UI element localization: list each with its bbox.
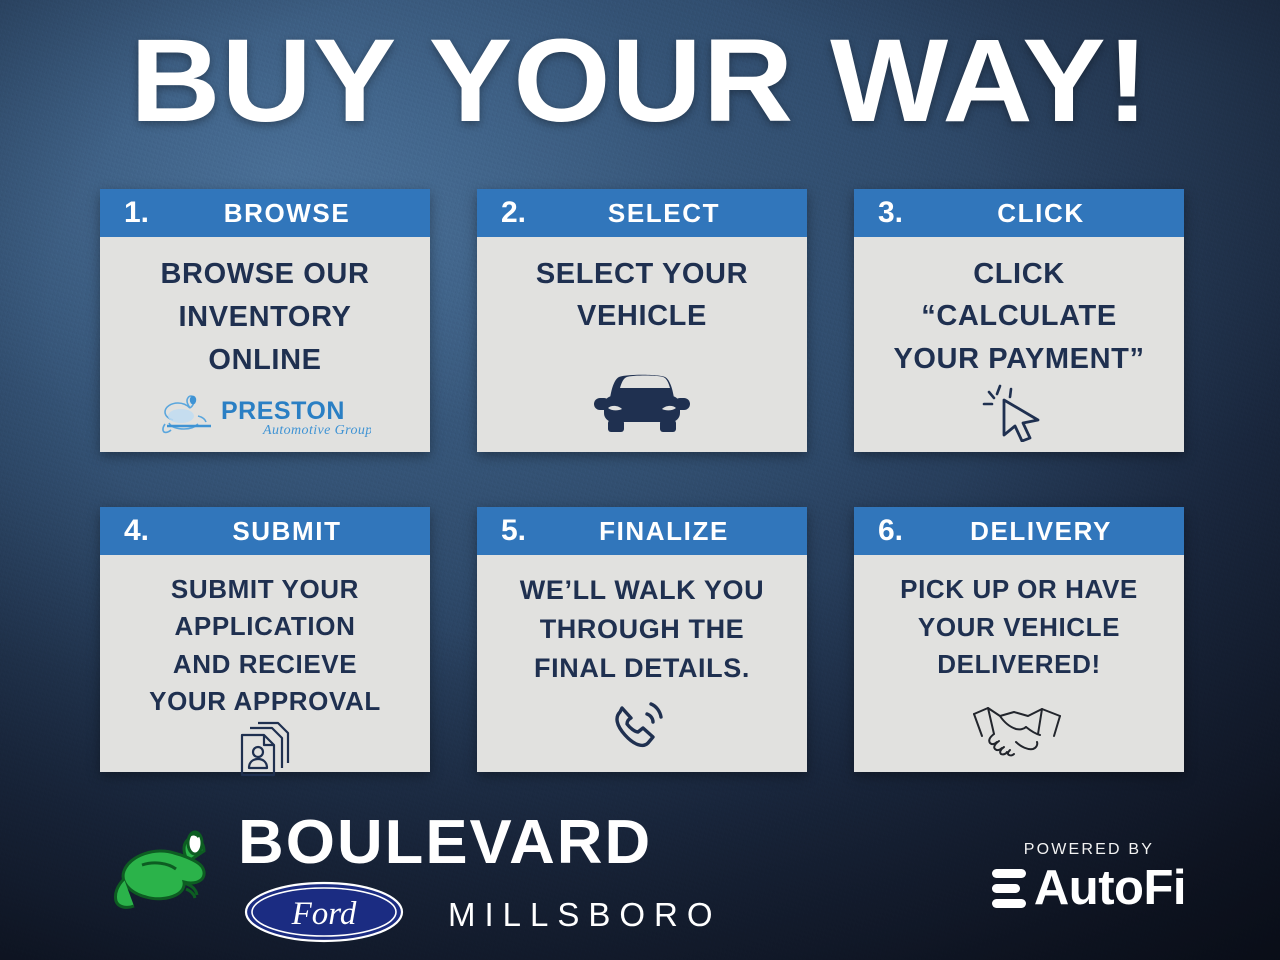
step-card-body: SUBMIT YOUR APPLICATION AND RECIEVE YOUR… [100,555,430,795]
step-title: CLICK [928,200,1170,226]
step-title: SELECT [551,200,793,226]
step-title: FINALIZE [551,518,793,544]
footer-branding: BOULEVARD Ford MILLSBORO POWERED BY [0,805,1280,960]
autofi-logo: AutoFi [992,864,1186,913]
poster-title-area: BUY YOUR WAY! [0,22,1280,140]
preston-tagline: Automotive Group [262,423,371,438]
step-card-header: 1. BROWSE [100,189,430,237]
step-card-click[interactable]: 3. CLICK CLICK “CALCULATE YOUR PAYMENT” [854,189,1184,452]
step-card-body: WE’LL WALK YOU THROUGH THE FINAL DETAILS… [477,555,807,772]
step-card-body: BROWSE OUR INVENTORY ONLINE [100,237,430,452]
step-number: 3. [868,198,922,228]
step-number: 4. [114,516,168,546]
ringing-phone-icon [607,694,677,764]
step-title: DELIVERY [928,518,1170,544]
dealer-brand-lockup: BOULEVARD Ford MILLSBORO [112,813,722,948]
step-description: SELECT YOUR VEHICLE [536,253,748,337]
dealer-name: BOULEVARD [238,813,731,873]
ford-millsboro-row: Ford MILLSBORO [244,881,722,948]
autofi-bars-icon [992,869,1026,908]
step-description: SUBMIT YOUR APPLICATION AND RECIEVE YOUR… [149,571,381,721]
frog-mascot-icon [112,823,224,938]
application-document-icon [234,721,296,787]
step-number: 1. [114,198,168,228]
dealer-city: MILLSBORO [448,898,722,931]
step-description: BROWSE OUR INVENTORY ONLINE [161,253,370,382]
page-title: BUY YOUR WAY! [130,22,1149,140]
ford-wordmark: Ford [291,896,357,932]
step-description: WE’LL WALK YOU THROUGH THE FINAL DETAILS… [520,571,764,688]
car-icon [590,364,694,444]
step-card-select[interactable]: 2. SELECT SELECT YOUR VEHICLE [477,189,807,452]
ford-oval-logo: Ford [244,881,404,948]
step-card-body: PICK UP OR HAVE YOUR VEHICLE DELIVERED! [854,555,1184,772]
step-card-browse[interactable]: 1. BROWSE BROWSE OUR INVENTORY ONLINE [100,189,430,452]
step-number: 6. [868,516,922,546]
step-description: CLICK “CALCULATE YOUR PAYMENT” [893,253,1144,380]
handshake-icon [970,700,1068,764]
step-card-submit[interactable]: 4. SUBMIT SUBMIT YOUR APPLICATION AND RE… [100,507,430,772]
step-card-header: 6. DELIVERY [854,507,1184,555]
step-number: 5. [491,516,545,546]
step-number: 2. [491,198,545,228]
autofi-wordmark: AutoFi [1034,864,1186,913]
steps-grid: 1. BROWSE BROWSE OUR INVENTORY ONLINE [100,189,1185,772]
cursor-click-icon [980,380,1058,448]
autofi-lockup: POWERED BY AutoFi [992,841,1186,913]
step-card-body: CLICK “CALCULATE YOUR PAYMENT” [854,237,1184,456]
step-card-finalize[interactable]: 5. FINALIZE WE’LL WALK YOU THROUGH THE F… [477,507,807,772]
boulevard-text-block: BOULEVARD Ford MILLSBORO [238,813,722,948]
step-card-delivery[interactable]: 6. DELIVERY PICK UP OR HAVE YOUR VEHICLE… [854,507,1184,772]
preston-automotive-group-logo: PRESTON Automotive Group [159,390,371,444]
powered-by-label: POWERED BY [992,841,1186,859]
step-card-header: 3. CLICK [854,189,1184,237]
step-card-body: SELECT YOUR VEHICLE [477,237,807,452]
preston-wordmark: PRESTON [221,397,345,425]
step-title: SUBMIT [174,518,416,544]
step-card-header: 5. FINALIZE [477,507,807,555]
step-card-header: 2. SELECT [477,189,807,237]
step-description: PICK UP OR HAVE YOUR VEHICLE DELIVERED! [900,571,1138,684]
buy-your-way-infographic: BUY YOUR WAY! 1. BROWSE BROWSE OUR INVEN… [0,0,1280,960]
step-title: BROWSE [174,200,416,226]
step-card-header: 4. SUBMIT [100,507,430,555]
